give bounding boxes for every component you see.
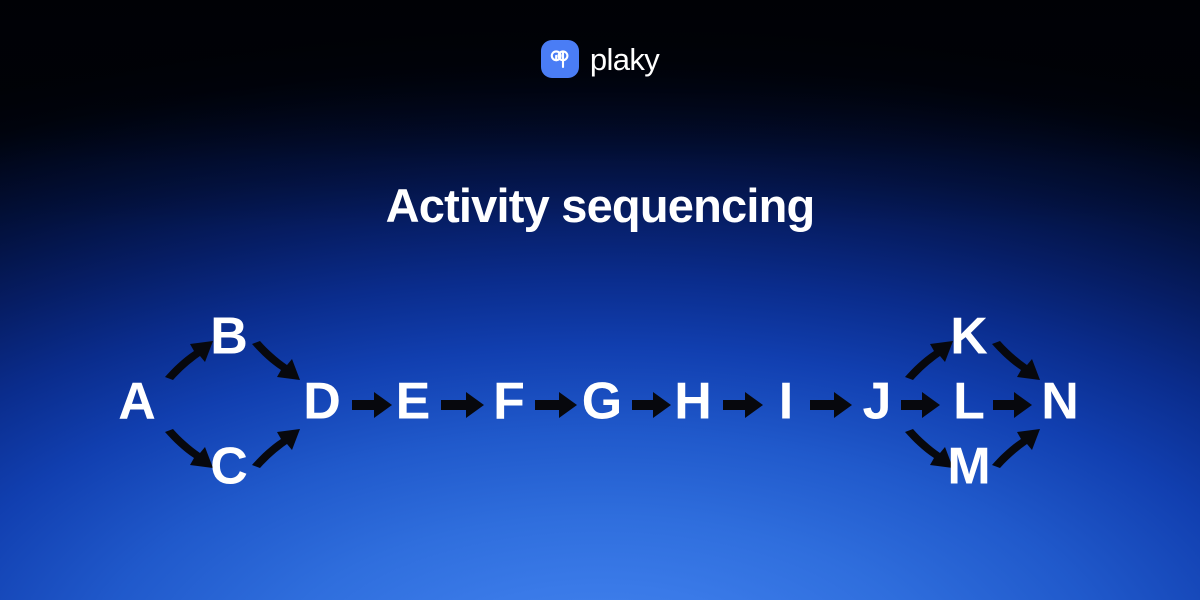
arrow-b-to-d xyxy=(252,341,300,380)
node-e: E xyxy=(396,373,431,431)
arrow-f-to-g xyxy=(535,392,577,418)
arrow-j-to-l xyxy=(901,392,940,418)
node-b: B xyxy=(210,308,248,366)
arrow-m-to-n xyxy=(992,429,1040,468)
arrow-c-to-d xyxy=(252,429,300,468)
activity-network-diagram: A B C D E F G H I J K L M N xyxy=(0,0,1200,600)
arrow-i-to-j xyxy=(810,392,852,418)
arrow-a-to-b xyxy=(165,341,213,380)
node-d: D xyxy=(303,373,341,431)
node-l: L xyxy=(953,373,985,431)
node-a: A xyxy=(118,373,156,431)
node-c: C xyxy=(210,438,248,496)
node-j: J xyxy=(863,373,892,431)
node-g: G xyxy=(582,373,622,431)
node-i: I xyxy=(779,373,793,431)
arrow-h-to-i xyxy=(723,392,763,418)
arrow-d-to-e xyxy=(352,392,392,418)
arrow-g-to-h xyxy=(632,392,671,418)
arrow-a-to-c xyxy=(165,429,213,468)
node-k: K xyxy=(950,308,988,366)
arrow-e-to-f xyxy=(441,392,484,418)
node-n: N xyxy=(1041,373,1079,431)
node-m: M xyxy=(947,438,990,496)
arrow-l-to-n xyxy=(993,392,1032,418)
arrow-j-to-k xyxy=(905,341,953,380)
node-h: H xyxy=(674,373,712,431)
node-f: F xyxy=(493,373,525,431)
arrow-j-to-m xyxy=(905,429,953,468)
slide-canvas: plaky Activity sequencing xyxy=(0,0,1200,600)
arrow-k-to-n xyxy=(992,341,1040,380)
